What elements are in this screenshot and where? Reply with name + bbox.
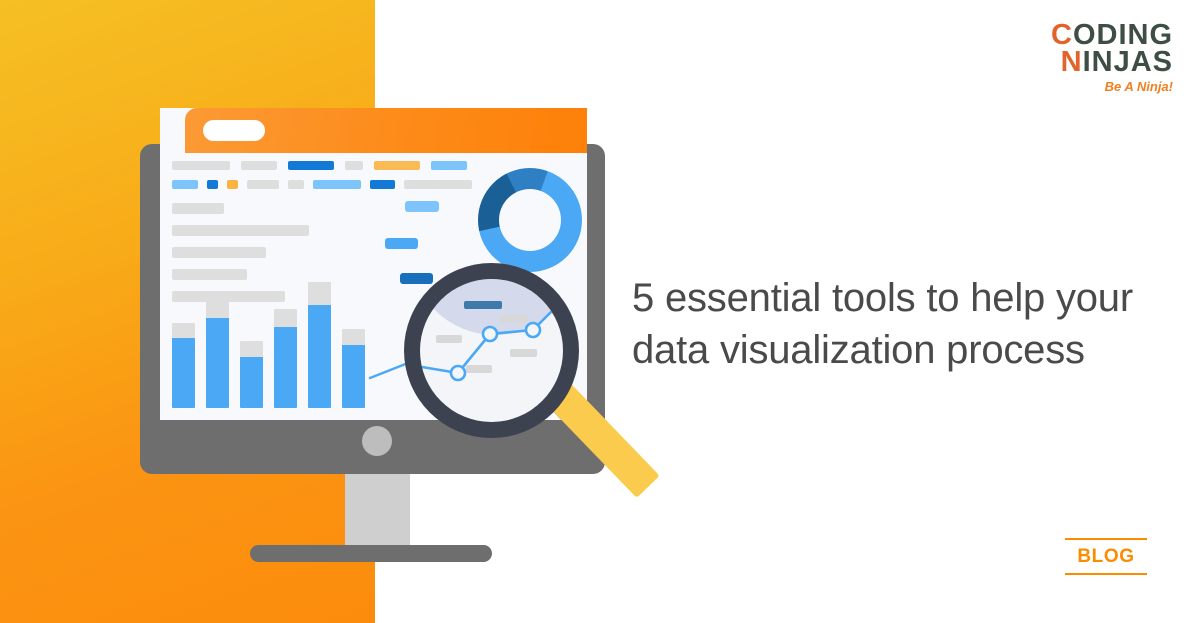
- brand-logo[interactable]: CODING NINJAS Be A Ninja!: [1013, 22, 1173, 94]
- logo-word-ninjas: NINJAS: [1013, 49, 1173, 76]
- badge-label: BLOG: [1065, 540, 1147, 573]
- line-chart-node: [451, 366, 465, 380]
- logo-tagline: Be A Ninja!: [1013, 79, 1173, 94]
- header-logo-pill: [203, 120, 265, 141]
- poster-canvas: 5 essential tools to help your data visu…: [0, 0, 1195, 623]
- logo-letter-n: N: [1061, 46, 1083, 78]
- monitor-stand-base: [250, 545, 492, 562]
- line-chart-node: [526, 323, 540, 337]
- magnifier-icon: [404, 263, 669, 513]
- page-title: 5 essential tools to help your data visu…: [632, 272, 1152, 376]
- monitor-stand-neck: [345, 474, 410, 548]
- line-chart-node: [483, 327, 497, 341]
- magnifier-ring: [404, 263, 579, 438]
- blog-badge[interactable]: BLOG: [1065, 538, 1147, 575]
- dashboard-header-bar: [185, 108, 587, 153]
- logo-rest-ninjas: INJAS: [1083, 46, 1173, 78]
- power-button-icon: [362, 426, 392, 456]
- badge-rule-bottom: [1065, 573, 1147, 575]
- magnifier-lens: [420, 279, 563, 422]
- lens-line-chart: [420, 279, 563, 422]
- logo-word-coding: CODING: [1013, 22, 1173, 49]
